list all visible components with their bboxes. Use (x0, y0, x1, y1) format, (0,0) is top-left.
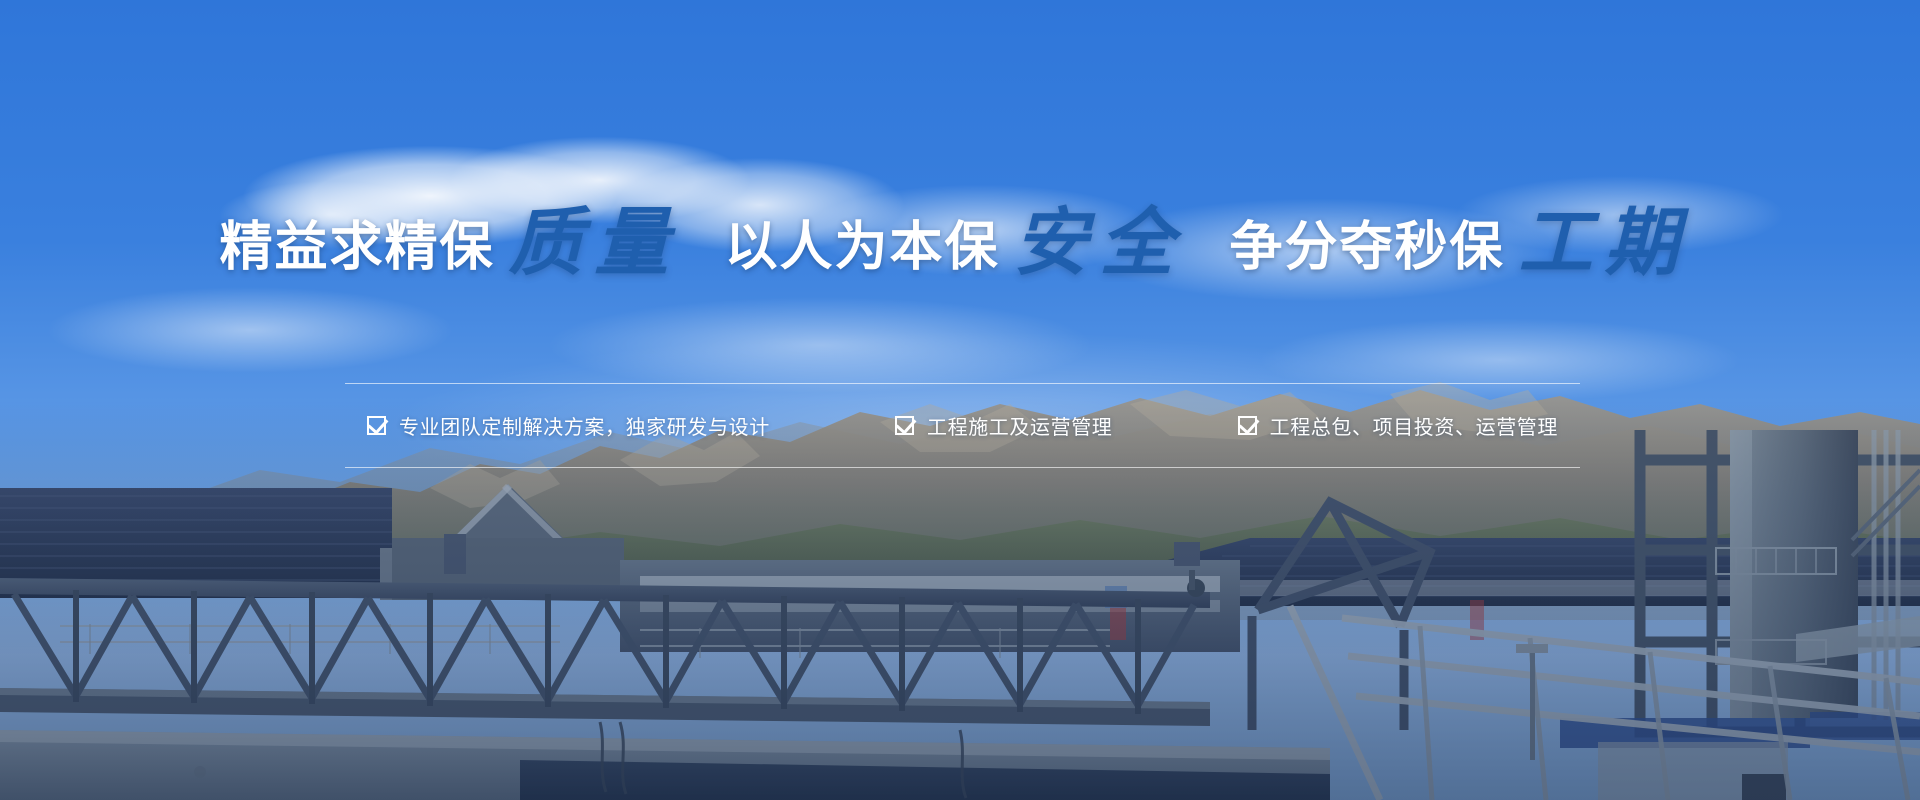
checkbox-checked-icon (1238, 416, 1257, 435)
headline-plain-3: 争分夺秒保 (1230, 218, 1505, 277)
headline-segment-2: 以人为本保安全 (725, 210, 1196, 284)
feature-label-3: 工程总包、项目投资、运营管理 (1270, 411, 1558, 440)
headline-segment-3: 争分夺秒保工期 (1230, 210, 1701, 284)
feature-label-2: 工程施工及运营管理 (927, 411, 1112, 440)
headline-plain-1: 精益求精保 (220, 218, 495, 277)
feature-item-2: 工程施工及运营管理 (895, 411, 1112, 440)
hero-banner: 精益求精保质量 以人为本保安全 争分夺秒保工期 专业团队定制解决方案，独家研发与… (0, 0, 1920, 800)
feature-label-1: 专业团队定制解决方案，独家研发与设计 (399, 411, 770, 440)
checkbox-checked-icon (895, 416, 914, 435)
headline: 精益求精保质量 以人为本保安全 争分夺秒保工期 (0, 210, 1920, 284)
headline-script-3: 工期 (1519, 200, 1691, 286)
feature-item-3: 工程总包、项目投资、运营管理 (1238, 411, 1558, 440)
headline-script-1: 质量 (509, 200, 681, 286)
headline-segment-1: 精益求精保质量 (220, 210, 691, 284)
headline-script-2: 安全 (1014, 200, 1186, 286)
headline-plain-2: 以人为本保 (725, 218, 1000, 277)
feature-strip: 专业团队定制解决方案，独家研发与设计 工程施工及运营管理 工程总包、项目投资、运… (345, 383, 1580, 468)
checkbox-checked-icon (367, 416, 386, 435)
industrial-plant-scene (0, 430, 1920, 800)
feature-item-1: 专业团队定制解决方案，独家研发与设计 (367, 411, 770, 440)
